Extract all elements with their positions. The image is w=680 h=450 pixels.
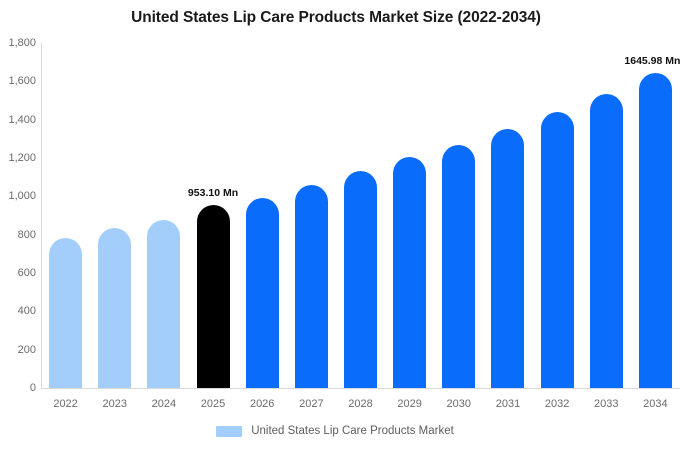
y-axis-tick-label: 400 <box>0 305 36 317</box>
y-axis-tick-label: 0 <box>0 382 36 394</box>
x-axis-tick-label-2029: 2029 <box>397 398 421 410</box>
bar-2030[interactable] <box>442 145 475 388</box>
data-label-2025: 953.10 Mn <box>188 187 238 199</box>
y-axis-tick-label: 1,200 <box>0 152 36 164</box>
chart-title: United States Lip Care Products Market S… <box>0 9 680 27</box>
bar-2023[interactable] <box>98 228 131 388</box>
chart-container: United States Lip Care Products Market S… <box>0 0 680 450</box>
y-axis-tick-label: 200 <box>0 344 36 356</box>
x-axis-tick-label-2030: 2030 <box>447 398 471 410</box>
bar-series: 953.10 Mn1645.98 Mn <box>41 43 680 388</box>
y-axis-tick-label: 800 <box>0 229 36 241</box>
x-axis-tick-label-2025: 2025 <box>201 398 225 410</box>
y-axis-tick-label: 1,000 <box>0 190 36 202</box>
bar-2034[interactable] <box>639 73 672 388</box>
x-axis-tick-label-2023: 2023 <box>102 398 126 410</box>
x-axis-tick-label-2026: 2026 <box>250 398 274 410</box>
y-axis-tick-label: 600 <box>0 267 36 279</box>
y-axis-tick-label: 1,400 <box>0 114 36 126</box>
x-axis-tick-label-2031: 2031 <box>496 398 520 410</box>
bar-2028[interactable] <box>344 171 377 388</box>
x-axis-tick-label-2033: 2033 <box>594 398 618 410</box>
y-axis-tick-label: 1,600 <box>0 75 36 87</box>
bar-2027[interactable] <box>295 185 328 388</box>
bar-2025[interactable] <box>197 205 230 388</box>
x-axis-tick-labels: 2022202320242025202620272028202920302031… <box>41 398 680 418</box>
y-axis-tick-label: 1,800 <box>0 37 36 49</box>
x-axis-tick-label-2027: 2027 <box>299 398 323 410</box>
bar-2024[interactable] <box>147 220 180 388</box>
bar-2022[interactable] <box>49 238 82 388</box>
bar-2029[interactable] <box>393 157 426 388</box>
data-label-2034: 1645.98 Mn <box>624 55 680 67</box>
x-axis-tick-label-2022: 2022 <box>53 398 77 410</box>
x-axis-tick-label-2032: 2032 <box>545 398 569 410</box>
x-axis-line <box>41 388 680 389</box>
y-axis-tick-labels: 02004006008001,0001,2001,4001,6001,800 <box>0 0 36 450</box>
chart-legend: United States Lip Care Products Market <box>0 425 680 437</box>
x-axis-tick-label-2028: 2028 <box>348 398 372 410</box>
bar-2032[interactable] <box>541 112 574 388</box>
plot-area: 953.10 Mn1645.98 Mn <box>41 43 680 388</box>
x-axis-tick-label-2024: 2024 <box>152 398 176 410</box>
bar-2033[interactable] <box>590 94 623 388</box>
bar-2026[interactable] <box>246 198 279 388</box>
legend-swatch <box>216 426 242 437</box>
bar-2031[interactable] <box>491 129 524 388</box>
x-axis-tick-label-2034: 2034 <box>643 398 667 410</box>
legend-label: United States Lip Care Products Market <box>251 425 454 437</box>
